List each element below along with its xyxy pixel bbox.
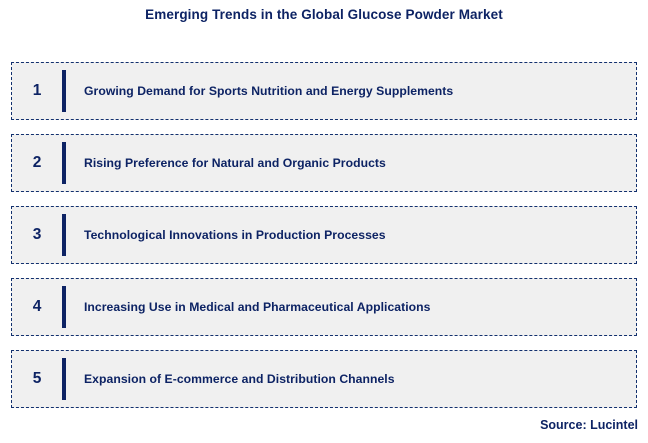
trend-number: 4	[12, 299, 62, 315]
list-item: 1 Growing Demand for Sports Nutrition an…	[11, 62, 637, 120]
trend-list: 1 Growing Demand for Sports Nutrition an…	[11, 62, 637, 408]
trend-label: Growing Demand for Sports Nutrition and …	[66, 84, 636, 98]
trend-label: Technological Innovations in Production …	[66, 228, 636, 242]
trends-infographic: Emerging Trends in the Global Glucose Po…	[0, 0, 648, 443]
trend-number: 3	[12, 227, 62, 243]
list-item: 2 Rising Preference for Natural and Orga…	[11, 134, 637, 192]
list-item: 3 Technological Innovations in Productio…	[11, 206, 637, 264]
trend-label: Increasing Use in Medical and Pharmaceut…	[66, 300, 636, 314]
trend-number: 5	[12, 371, 62, 387]
page-title: Emerging Trends in the Global Glucose Po…	[0, 7, 648, 22]
trend-label: Rising Preference for Natural and Organi…	[66, 156, 636, 170]
source-attribution: Source: Lucintel	[540, 418, 638, 432]
list-item: 5 Expansion of E-commerce and Distributi…	[11, 350, 637, 408]
list-item: 4 Increasing Use in Medical and Pharmace…	[11, 278, 637, 336]
trend-number: 2	[12, 155, 62, 171]
trend-label: Expansion of E-commerce and Distribution…	[66, 372, 636, 386]
trend-number: 1	[12, 83, 62, 99]
